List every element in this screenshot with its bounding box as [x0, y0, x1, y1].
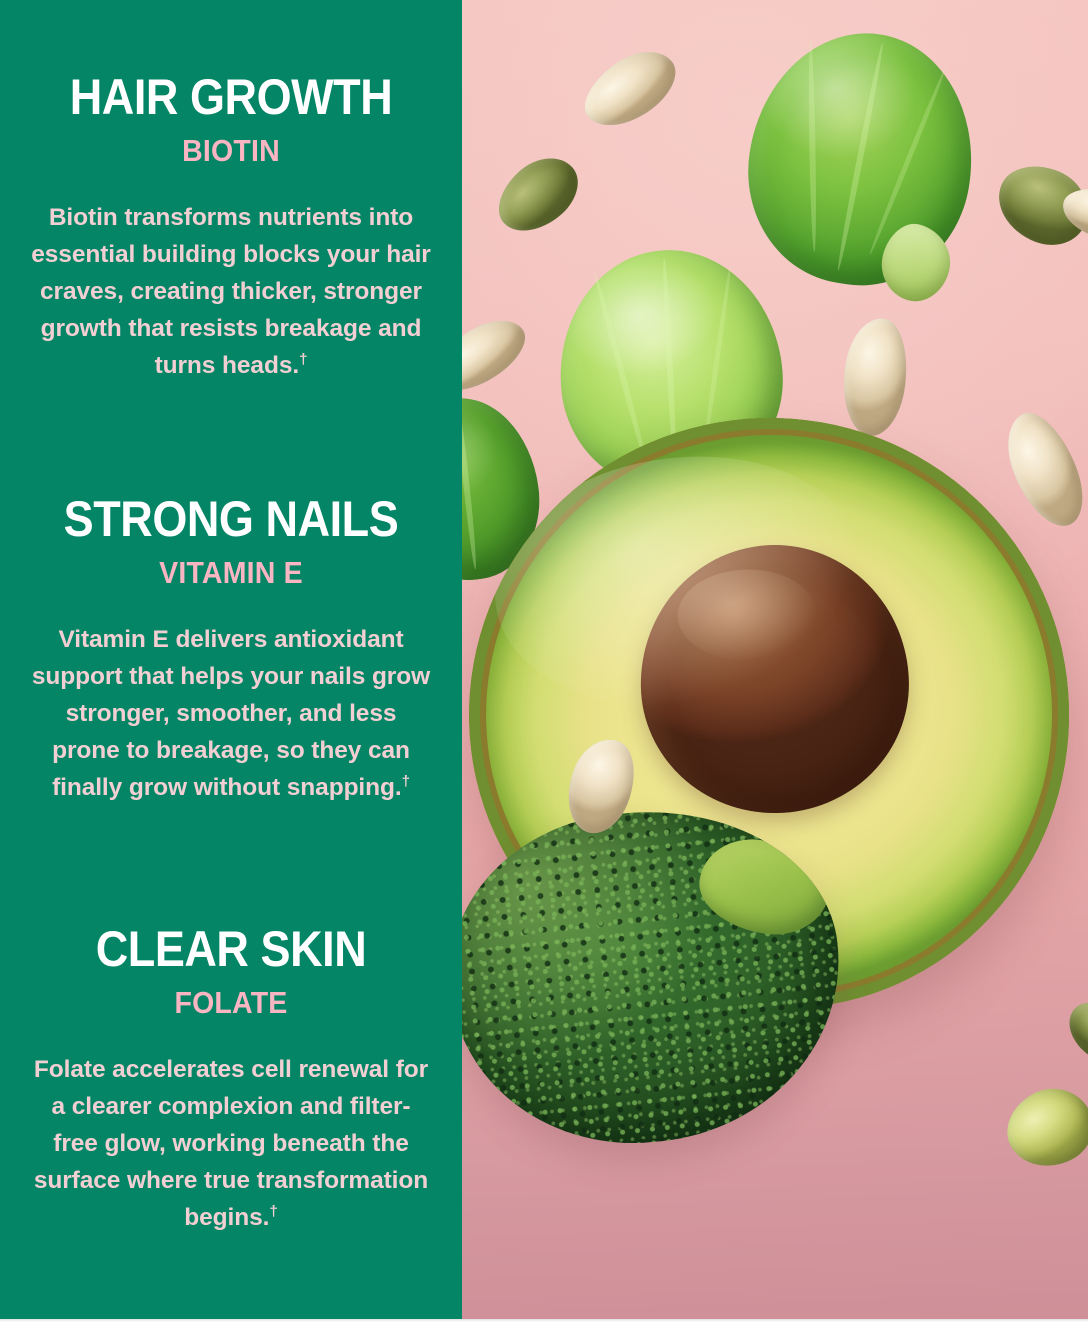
- pumpkin-seed-icon: [485, 143, 591, 246]
- benefit-description-text-strong-nails: Vitamin E delivers antioxidant support t…: [32, 626, 430, 801]
- benefit-block-hair-growth: HAIR GROWTH BIOTIN Biotin transforms nut…: [18, 72, 444, 384]
- pumpkin-seed-icon: [994, 1074, 1088, 1181]
- sunflower-seed-icon: [573, 36, 688, 142]
- benefit-description-clear-skin: Folate accelerates cell renewal for a cl…: [18, 1051, 444, 1236]
- sunflower-seed-icon: [462, 306, 536, 406]
- benefit-headline-strong-nails: STRONG NAILS: [39, 494, 422, 544]
- benefit-description-text-hair-growth: Biotin transforms nutrients into essenti…: [31, 204, 430, 379]
- broccoli-floret-icon: [462, 793, 856, 1162]
- benefit-nutrient-vitamin-e: VITAMIN E: [35, 557, 427, 588]
- footnote-dagger-clear-skin: †: [269, 1203, 277, 1220]
- benefit-description-text-clear-skin: Folate accelerates cell renewal for a cl…: [34, 1056, 428, 1231]
- sunflower-seed-icon: [995, 403, 1088, 537]
- benefit-nutrient-biotin: BIOTIN: [35, 135, 427, 166]
- pumpkin-seed-icon: [1057, 991, 1088, 1073]
- broccoli-texture: [462, 793, 856, 1162]
- benefit-headline-hair-growth: HAIR GROWTH: [39, 72, 422, 122]
- footnote-dagger-strong-nails: †: [402, 773, 410, 790]
- benefit-block-strong-nails: STRONG NAILS VITAMIN E Vitamin E deliver…: [18, 494, 444, 806]
- sunflower-seed-icon: [836, 314, 914, 439]
- benefit-block-clear-skin: CLEAR SKIN FOLATE Folate accelerates cel…: [18, 924, 444, 1236]
- product-photo: [462, 0, 1088, 1319]
- benefit-description-hair-growth: Biotin transforms nutrients into essenti…: [18, 199, 444, 384]
- marketing-graphic: HAIR GROWTH BIOTIN Biotin transforms nut…: [0, 0, 1088, 1328]
- benefit-headline-clear-skin: CLEAR SKIN: [39, 924, 422, 974]
- footnote-dagger-hair-growth: †: [299, 351, 307, 368]
- benefit-description-strong-nails: Vitamin E delivers antioxidant support t…: [18, 621, 444, 806]
- brussels-sprout-icon: [732, 17, 991, 301]
- avocado-pit-icon: [638, 543, 911, 816]
- benefit-nutrient-folate: FOLATE: [35, 987, 427, 1018]
- bottom-edge-strip: [0, 1319, 1088, 1328]
- benefits-panel: HAIR GROWTH BIOTIN Biotin transforms nut…: [0, 0, 462, 1319]
